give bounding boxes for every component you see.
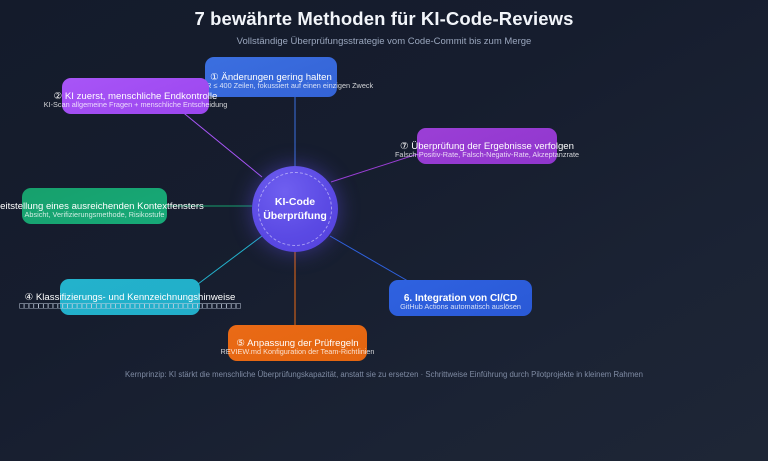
node-6[interactable]: 6. Integration von CI/CD GitHub Actions … xyxy=(389,280,532,316)
footer-note: Kernprinzip: KI stärkt die menschliche Ü… xyxy=(0,369,768,381)
node-5-title: ⑤ Anpassung der Prüfregeln xyxy=(236,337,358,350)
central-node[interactable]: KI-Code Überprüfung xyxy=(252,166,338,252)
page-subtitle: Vollständige Überprüfungsstrategie vom C… xyxy=(0,35,768,48)
node-4-title: ④ Klassifizierungs- und Kennzeichnungshi… xyxy=(25,291,236,304)
node-4[interactable]: ④ Klassifizierungs- und Kennzeichnungshi… xyxy=(60,279,200,315)
central-node-line2: Überprüfung xyxy=(263,210,327,222)
node-2[interactable]: ② KI zuerst, menschliche Endkontrolle KI… xyxy=(62,78,209,114)
mindmap-canvas: 7 bewährte Methoden für KI-Code-Reviews … xyxy=(0,0,768,461)
page-title: 7 bewährte Methoden für KI-Code-Reviews xyxy=(0,8,768,30)
diagram-header: 7 bewährte Methoden für KI-Code-Reviews … xyxy=(0,8,768,48)
node-3-title: Bereitstellung eines ausreichenden Konte… xyxy=(0,200,204,213)
central-node-label: KI-Code Überprüfung xyxy=(263,195,327,223)
connector-node-2 xyxy=(180,110,262,177)
node-1[interactable]: ① Änderungen gering halten Einzelner PR … xyxy=(205,57,337,97)
node-5[interactable]: ⑤ Anpassung der Prüfregeln REVIEW.md Kon… xyxy=(228,325,367,361)
node-2-title: ② KI zuerst, menschliche Endkontrolle xyxy=(54,90,218,103)
node-3[interactable]: Bereitstellung eines ausreichenden Konte… xyxy=(22,188,167,224)
central-node-line1: KI-Code xyxy=(275,196,315,208)
connector-lines xyxy=(0,0,768,461)
node-7-title: ⑦ Überprüfung der Ergebnisse verfolgen xyxy=(400,140,574,153)
node-7[interactable]: ⑦ Überprüfung der Ergebnisse verfolgen F… xyxy=(417,128,557,164)
node-1-title: ① Änderungen gering halten xyxy=(210,71,332,84)
node-6-title: 6. Integration von CI/CD xyxy=(404,292,517,305)
